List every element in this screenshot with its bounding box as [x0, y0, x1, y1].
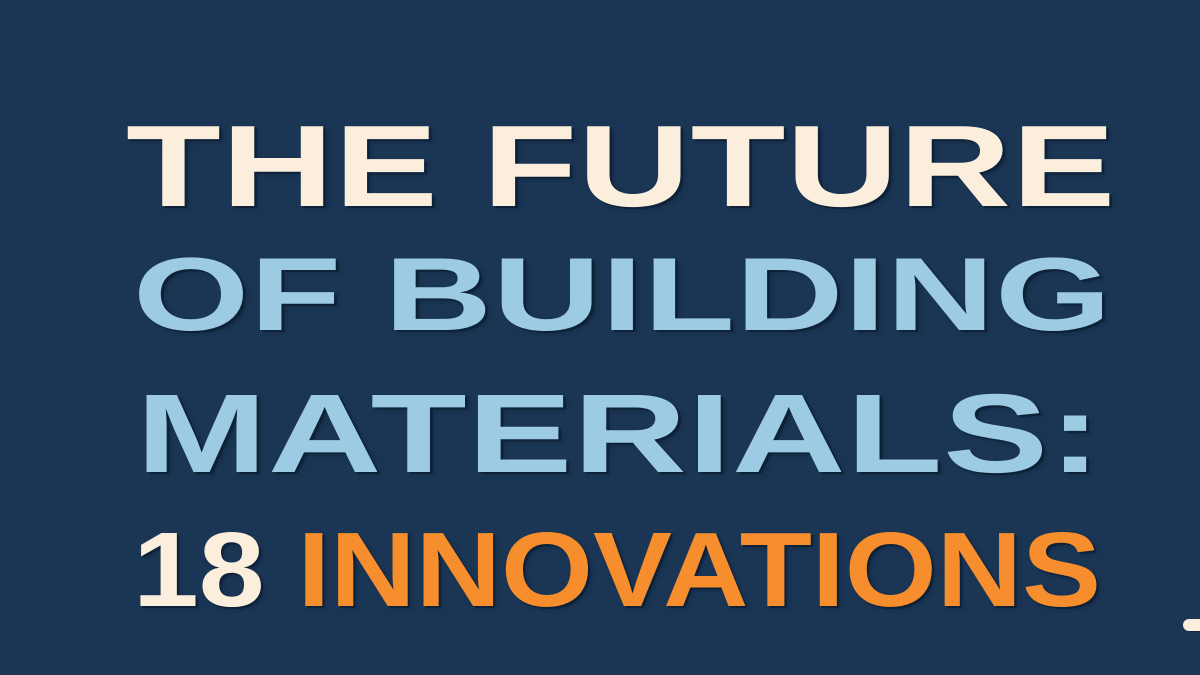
headline-line-materials: MATERIALS: [136, 378, 1102, 490]
infographic-poster: THE FUTURE OF BUILDING MATERIALS: 18 INN… [0, 0, 1200, 675]
cut-off-glyph-fragment [1183, 619, 1200, 631]
innovations-label: INNOVATIONS [297, 511, 1101, 629]
innovation-count: 18 [133, 511, 265, 629]
headline-line-the-future: THE FUTURE [126, 108, 1116, 224]
headline-line-innovations: 18 INNOVATIONS [133, 517, 1101, 623]
headline-line-of-building: OF BUILDING [133, 243, 1112, 347]
title-block: THE FUTURE OF BUILDING MATERIALS: 18 INN… [0, 0, 1200, 675]
